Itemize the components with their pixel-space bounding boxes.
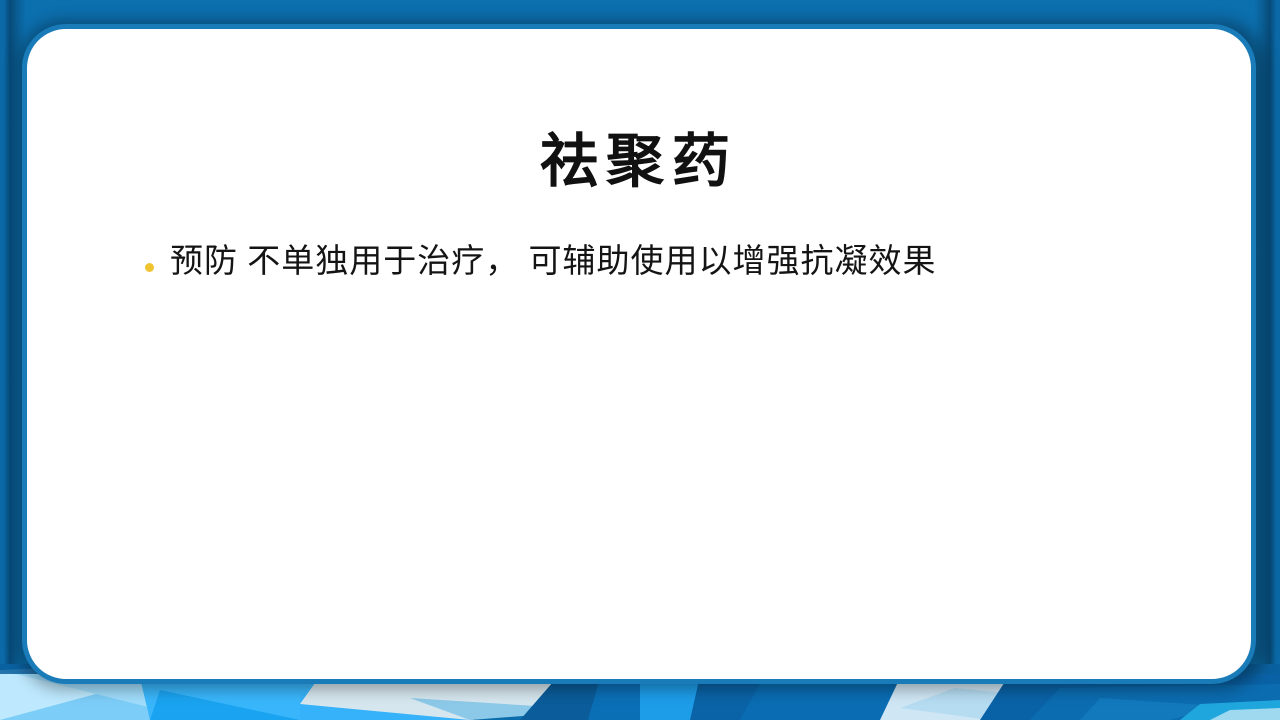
bullet-item-text: 预防 不单独用于治疗， 可辅助使用以增强抗凝效果 [170, 237, 937, 288]
page-title: 祛聚药 [27, 130, 1251, 194]
slide-canvas: 祛聚药 预防 不单独用于治疗， 可辅助使用以增强抗凝效果 [0, 0, 1280, 720]
content-card: 祛聚药 预防 不单独用于治疗， 可辅助使用以增强抗凝效果 [22, 24, 1256, 684]
list-item: 预防 不单独用于治疗， 可辅助使用以增强抗凝效果 [145, 237, 1191, 288]
bullet-dot-icon [145, 263, 154, 272]
bullet-list: 预防 不单独用于治疗， 可辅助使用以增强抗凝效果 [145, 237, 1191, 288]
